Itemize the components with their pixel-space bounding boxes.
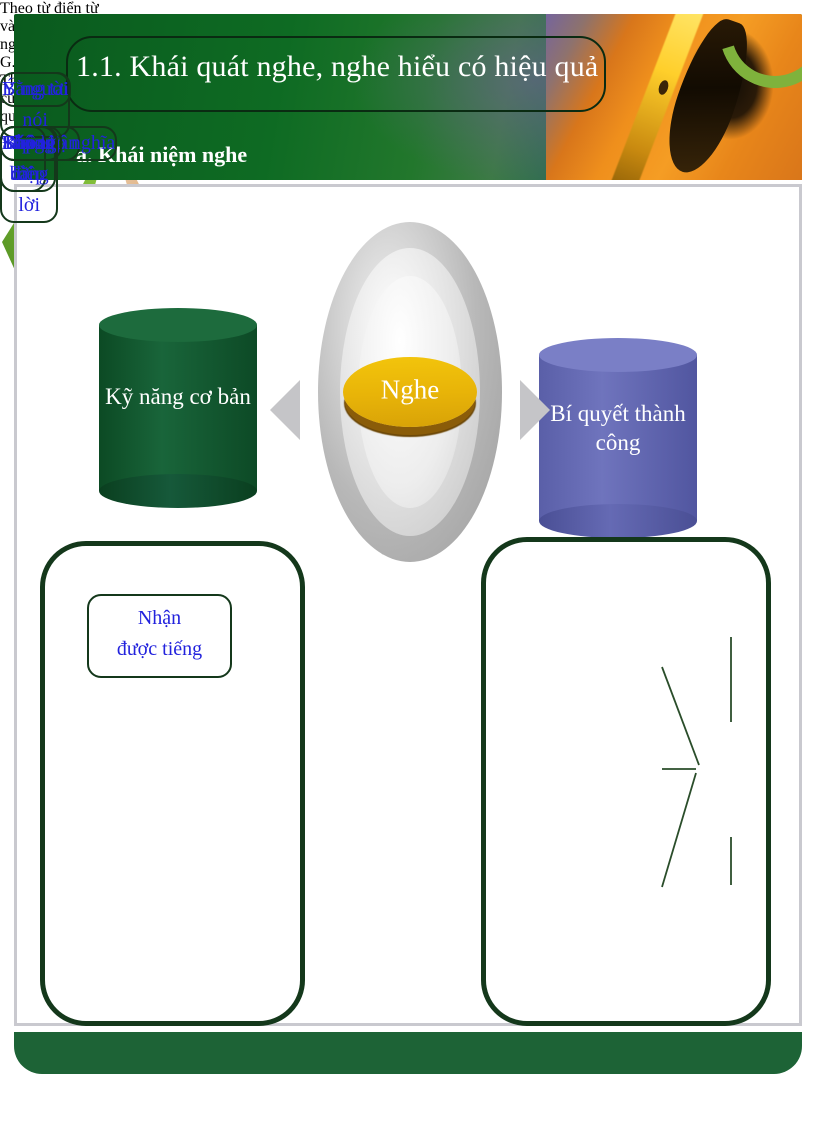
- center-target-graphic: Nghe: [318, 222, 502, 562]
- right-side-box-3-line1: Không: [2, 128, 56, 159]
- slide-footer-bar: [14, 1032, 802, 1074]
- cylinder-right-top: [539, 338, 697, 372]
- left-box-1-line2: được tiếng: [89, 634, 230, 665]
- cylinder-left-top: [99, 308, 257, 342]
- cylinder-right-bottom: [539, 504, 697, 538]
- right-side-box-3-line2: bằng: [2, 159, 56, 190]
- left-box-nhan-duoc-tieng: Nhận được tiếng: [87, 594, 232, 678]
- right-box-khong-bang-loi: Không bằng lời: [0, 126, 58, 223]
- slide-title: 1.1. Khái quát nghe, nghe hiểu có hiệu q…: [76, 50, 676, 84]
- cylinder-right-line1: Bí quyết: [550, 401, 629, 426]
- right-definition-panel: [481, 537, 771, 1026]
- cylinder-left-label: Kỹ năng cơ bản: [99, 383, 257, 412]
- left-box-3-line1: Ý người: [2, 74, 68, 105]
- nghe-label: Nghe: [381, 375, 439, 406]
- right-side-box-3-line3: lời: [2, 190, 56, 221]
- slide-canvas: 1.1. Khái quát nghe, nghe hiểu có hiệu q…: [0, 0, 816, 1123]
- cylinder-bi-quyet-thanh-cong: Bí quyết thành công: [539, 338, 697, 538]
- cylinder-right-label: Bí quyết thành công: [539, 400, 697, 458]
- slide-header: 1.1. Khái quát nghe, nghe hiểu có hiệu q…: [14, 14, 802, 180]
- cylinder-left-bottom: [99, 474, 257, 508]
- cylinder-left-line2: bản: [218, 384, 251, 409]
- left-box-1-line1: Nhận: [89, 603, 230, 634]
- cylinder-ky-nang-co-ban: Kỹ năng cơ bản: [99, 308, 257, 508]
- cylinder-left-line1: Kỹ năng cơ: [105, 384, 212, 409]
- left-pointer-arrow-icon: [270, 380, 300, 440]
- right-pointer-arrow-icon: [520, 380, 550, 440]
